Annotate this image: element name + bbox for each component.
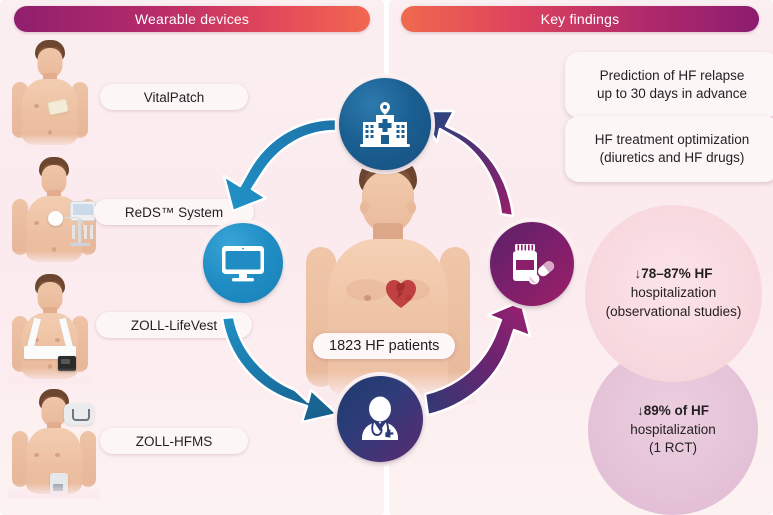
wearable-defibrillator-vest-icon <box>8 272 92 384</box>
device-label-hfms: ZOLL-HFMS <box>100 428 248 454</box>
device-illustration-vitalpatch <box>8 38 92 150</box>
device-label-vitalpatch: VitalPatch <box>100 84 248 110</box>
pill-bottle-icon <box>507 239 557 289</box>
doctor-icon <box>354 393 406 445</box>
device-label-text: ZOLL-LifeVest <box>131 318 217 333</box>
finding-line-2: (diuretics and HF drugs) <box>595 149 750 167</box>
monitor-icon <box>220 240 266 286</box>
patient-count-text: 1823 HF patients <box>329 338 439 354</box>
stat-circle-observational: ↓78–87% HF hospitalization (observationa… <box>585 205 762 382</box>
hospital-icon <box>357 96 413 152</box>
patient-count-badge: 1823 HF patients <box>313 333 455 359</box>
central-patient-illustration <box>300 155 476 405</box>
device-illustration-reds <box>8 155 100 267</box>
stat-line-3: (observational studies) <box>606 303 742 322</box>
chest-patch-icon <box>8 38 92 150</box>
heart-icon <box>384 277 418 311</box>
stat-line-1: ↓78–87% HF <box>606 265 742 284</box>
key-findings-banner: Key findings <box>401 6 759 32</box>
cycle-node-hospital[interactable] <box>339 78 431 170</box>
stat-line-1: ↓89% of HF <box>630 402 716 421</box>
wearable-devices-banner-title: Wearable devices <box>135 11 249 27</box>
finding-card-prediction: Prediction of HF relapse up to 30 days i… <box>565 52 773 118</box>
device-illustration-hfms <box>8 387 100 499</box>
finding-line-2: up to 30 days in advance <box>597 85 747 103</box>
cycle-node-monitor[interactable] <box>203 223 283 303</box>
heart-failure-management-patch-icon <box>8 387 100 499</box>
reds-sensor-icon <box>8 155 100 267</box>
stat-line-3: (1 RCT) <box>630 439 716 458</box>
device-label-text: VitalPatch <box>144 90 205 105</box>
key-findings-banner-title: Key findings <box>541 11 620 27</box>
cycle-node-doctor[interactable] <box>337 376 423 462</box>
device-label-lifevest: ZOLL-LifeVest <box>96 312 252 338</box>
device-label-reds: ReDS™ System <box>94 199 254 225</box>
finding-line-1: Prediction of HF relapse <box>597 67 747 85</box>
stat-line-2: hospitalization <box>630 421 716 440</box>
finding-line-1: HF treatment optimization <box>595 131 750 149</box>
cycle-node-pills[interactable] <box>490 222 574 306</box>
device-illustration-lifevest <box>8 272 92 384</box>
infographic-canvas: Wearable devices Key findings VitalPatch… <box>0 0 773 515</box>
device-label-text: ZOLL-HFMS <box>136 434 213 449</box>
wearable-devices-banner: Wearable devices <box>14 6 370 32</box>
finding-card-treatment: HF treatment optimization (diuretics and… <box>565 116 773 182</box>
stat-line-2: hospitalization <box>606 284 742 303</box>
device-label-text: ReDS™ System <box>125 205 223 220</box>
